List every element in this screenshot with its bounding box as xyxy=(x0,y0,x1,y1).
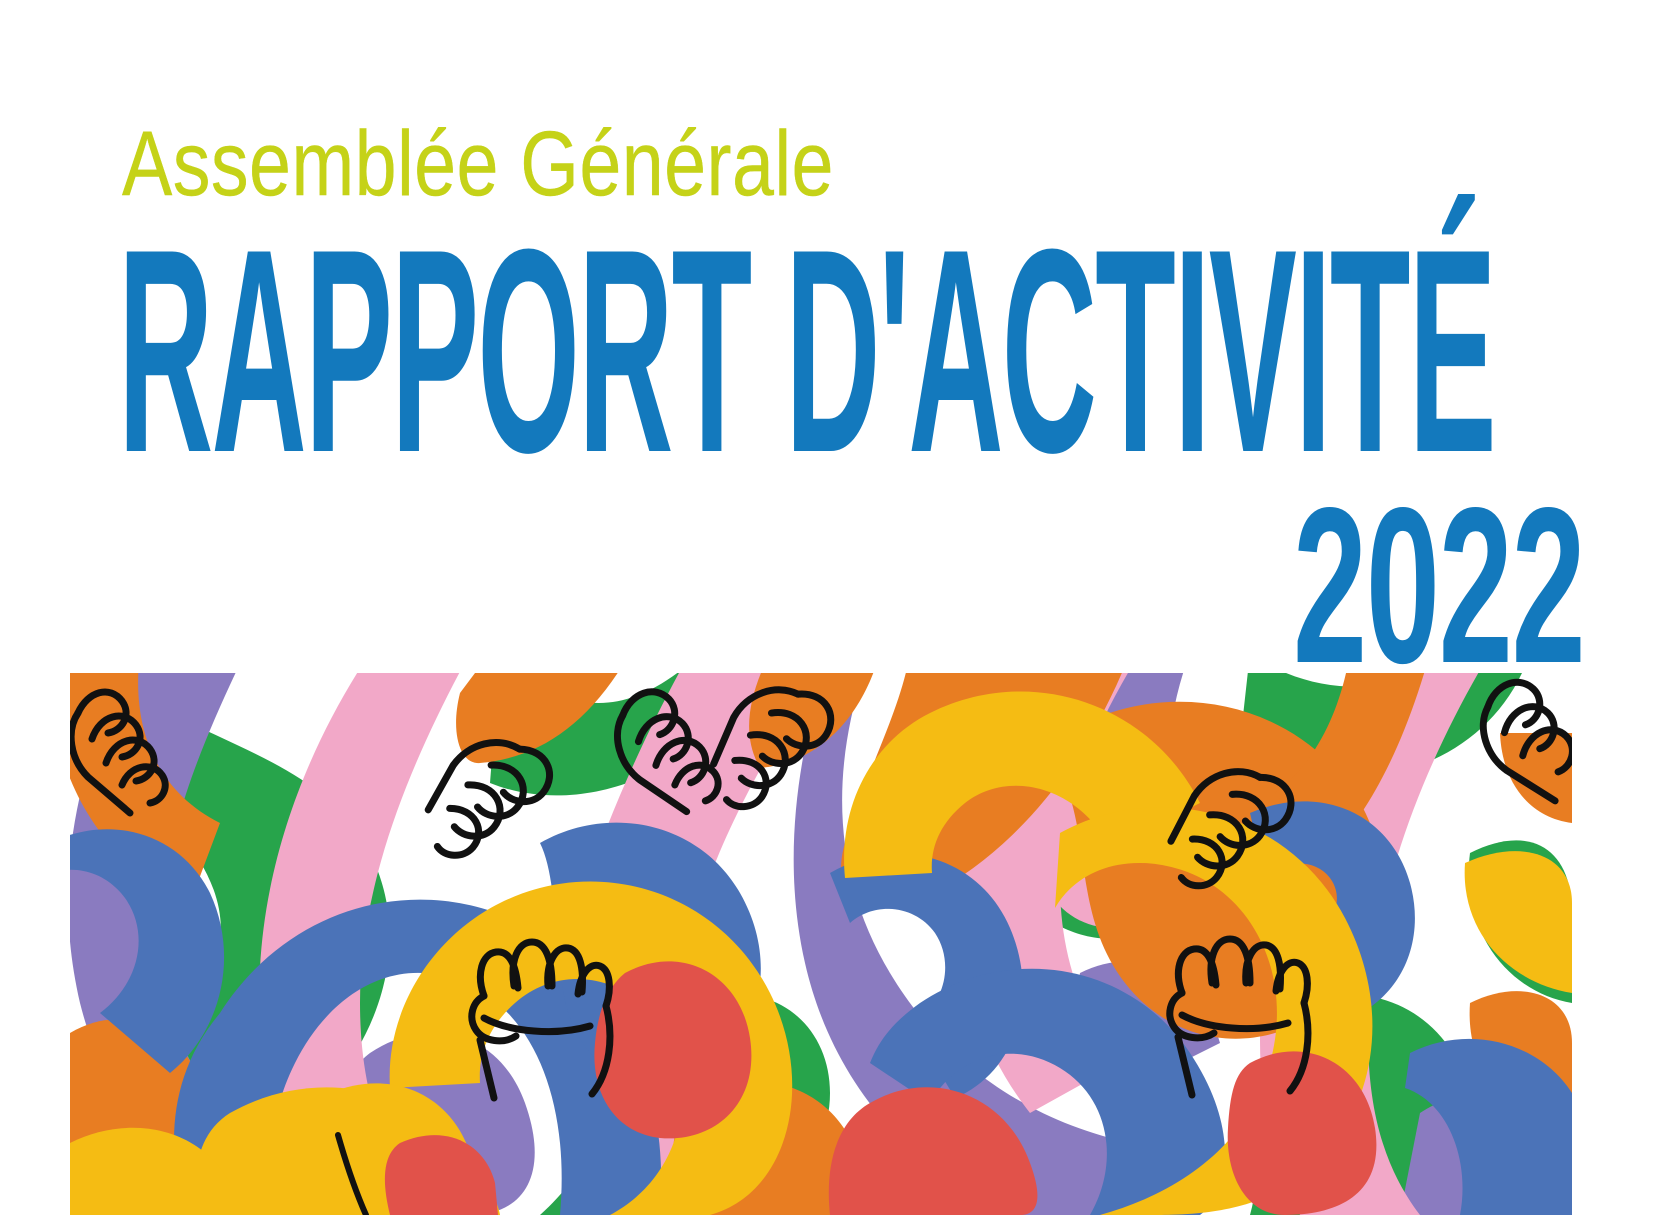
cover-page: Assemblée Générale RAPPORT D'ACTIVITÉ 20… xyxy=(0,0,1654,1215)
page-year: 2022 xyxy=(1293,500,1585,673)
page-title: RAPPORT D'ACTIVITÉ xyxy=(118,238,1495,464)
interlaced-arms-illustration xyxy=(70,673,1572,1215)
cover-illustration xyxy=(70,673,1572,1215)
